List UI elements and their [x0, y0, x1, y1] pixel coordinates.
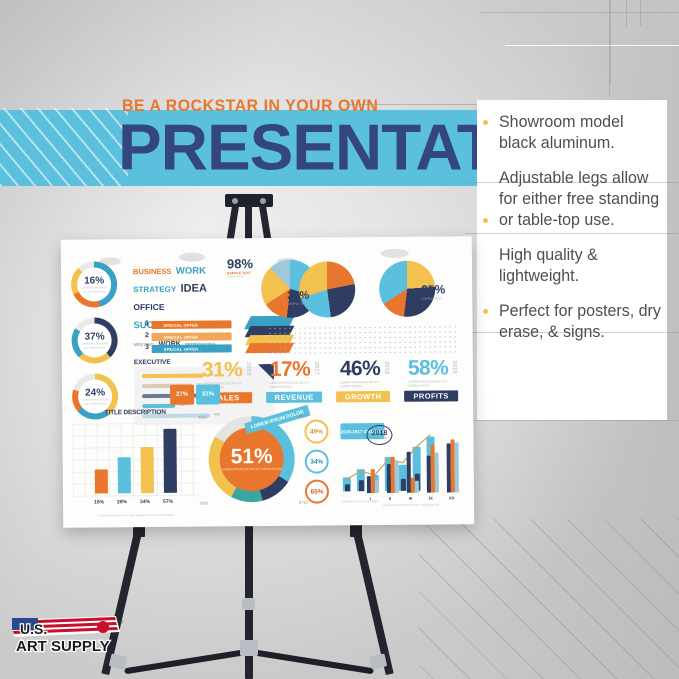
group-axis-label: IX	[429, 496, 433, 501]
word-cloud-item: BUSINESS	[133, 268, 171, 276]
group-chart-footnote: LOREM IPSUM DOLOR SIT AMET CONSECTETUR	[363, 503, 459, 507]
pie-caption: SAMPLE TEXT	[287, 302, 309, 306]
bullet-dot-icon	[483, 309, 488, 314]
kpi-sub: LOREM IPSUM DOLOR SIT LOREM IPSUM	[270, 381, 310, 389]
offer-bar: 1 SPECIAL OFFER	[151, 320, 231, 329]
product-marketing-image: BE A ROCKSTAR IN YOUR OWN PRESENTATION S…	[0, 0, 679, 679]
list-item: Perfect for posters, dry erase, & signs.	[482, 301, 670, 343]
offer-label: SPECIAL OFFER	[164, 334, 199, 339]
small-tag-51: 51%	[196, 384, 220, 404]
deco-line-vertical-c	[640, 0, 641, 26]
kpi-year: 2016	[245, 362, 251, 375]
kpi-tag-revenue: REVENUE	[266, 392, 322, 403]
screw-icon	[232, 198, 238, 204]
kpi-sub: LOREM IPSUM DOLOR SIT LOREM IPSUM	[340, 380, 380, 388]
kpi-value: 46%	[340, 359, 380, 379]
word-cloud-item: EXECUTIVE	[134, 360, 171, 367]
bar	[95, 469, 108, 493]
feature-text: Showroom model black aluminum.	[499, 112, 665, 154]
pie-sub: LOREM IPSUM	[227, 275, 253, 278]
svg-text:®: ®	[118, 619, 123, 626]
word-cloud-item: STRATEGY	[133, 286, 176, 294]
donut-corner-label: 4354	[198, 415, 207, 420]
pie-label-98: 98% SAMPLE TEXT LOREM IPSUM	[227, 256, 253, 278]
group-chart-caption: SAMPLE TEXT	[371, 437, 387, 440]
bar-label: 57%	[163, 499, 173, 505]
group-axis-label: XX	[449, 495, 454, 500]
ring-center: 37% LOREM IPSUM DOLORSIT LOREM IPSUM	[77, 323, 111, 357]
pie-label-20: 20% SAMPLE TEXT	[287, 290, 309, 306]
deco-line-vertical-a	[610, 0, 611, 84]
bar	[141, 447, 154, 493]
bar-label: 16%	[94, 499, 104, 505]
group-axis-label: II	[389, 496, 391, 501]
bar	[118, 457, 131, 493]
feature-list: Showroom model black aluminum. Adjustabl…	[482, 112, 670, 357]
infographic-poster: 16% LOREM IPSUM DOLORSIT LOREM IPSUM 37%…	[61, 236, 474, 528]
bar-chart: TITLE DESCRIPTION 16% 28% 34% 57% LOREM …	[72, 409, 199, 518]
panel-rule-4	[465, 420, 679, 421]
ring-value: 24%	[85, 388, 105, 399]
kpi-tag-growth: GROWTH	[336, 391, 390, 402]
badge-65: 65%	[305, 479, 329, 503]
list-item: Adjustable legs allow for either free st…	[482, 168, 670, 231]
bullet-dot-icon	[483, 120, 488, 125]
bar	[455, 442, 459, 492]
svg-text:ART SUPPLY: ART SUPPLY	[16, 638, 110, 655]
kpi-revenue: 17% 2017 LOREM IPSUM DOLOR SIT LOREM IPS…	[270, 360, 310, 389]
ring-caption: LOREM IPSUM DOLORSIT LOREM IPSUM	[82, 399, 108, 406]
feature-text: Perfect for posters, dry erase, & signs.	[499, 301, 665, 343]
bar	[395, 461, 399, 493]
kpi-tag-profits: PROFITS	[404, 390, 458, 401]
svg-text:U.S.: U.S.	[20, 621, 47, 637]
cloud-icon	[381, 249, 409, 258]
word-cloud-item: OFFICE	[133, 303, 164, 311]
badge-value: 65%	[310, 488, 323, 495]
donut-corner-label: 7395	[199, 501, 208, 506]
list-item: High quality & lightweight.	[482, 245, 670, 287]
deco-line-top	[480, 12, 679, 13]
offer-bar: 3 SPECIAL OFFER	[152, 344, 232, 353]
pie-value: 35%	[421, 282, 445, 296]
bar-label: 28%	[117, 499, 127, 505]
bar-chart-title: TITLE DESCRIPTION	[72, 409, 198, 417]
ring-stat: 37% LOREM IPSUM DOLORSIT LOREM IPSUM	[71, 317, 117, 363]
bar-chart-footnote: LOREM IPSUM DOLOR SIT AMET CONSECTETUR A…	[73, 513, 199, 517]
dot-grid-decoration	[268, 324, 458, 354]
donut-corner-label: 9894	[298, 414, 307, 419]
bar	[375, 480, 379, 493]
pie-label-35: 35% SAMPLE TEXT	[421, 282, 445, 300]
bullet-dot-icon	[483, 218, 488, 223]
group-bar-chart: 2018 SAMPLE TEXT I II	[362, 422, 459, 507]
pie-value: 98%	[227, 256, 253, 271]
kpi-value: 17%	[270, 360, 310, 380]
group-axis-label: III	[409, 496, 412, 501]
kpi-sub: LOREM IPSUM DOLOR SIT LOREM IPSUM	[408, 379, 448, 387]
ring-value: 16%	[84, 276, 104, 287]
donut-caption: LOREM IPSUM DOLOR SIT LOREM IPSUM	[222, 467, 282, 472]
word-cloud-item: WORK	[176, 267, 206, 276]
ring-caption: LOREM IPSUM DOLORSIT LOREM IPSUM	[81, 287, 107, 294]
donut-corner-label: 6712	[299, 500, 308, 505]
badge-34: 34%	[305, 449, 329, 473]
kpi-value: 31%	[202, 360, 242, 380]
kpi-value: 58%	[408, 358, 448, 378]
feature-text: Adjustable legs allow for either free st…	[499, 168, 665, 231]
offer-number: 3	[143, 344, 152, 354]
small-tag-27: 27%	[170, 385, 194, 405]
ring-center: 16% LOREM IPSUM DOLORSIT LOREM IPSUM	[77, 267, 111, 301]
bar	[163, 429, 177, 493]
kpi-profits: 58% 2019 LOREM IPSUM DOLOR SIT LOREM IPS…	[408, 358, 448, 387]
offer-number: 1	[142, 320, 151, 330]
bar	[415, 481, 419, 493]
pie-caption: SAMPLE TEXT	[421, 296, 445, 300]
ring-value: 37%	[85, 332, 105, 343]
bar	[435, 453, 439, 493]
bar	[407, 452, 411, 493]
kpi-growth: 46% 2018 LOREM IPSUM DOLOR SIT LOREM IPS…	[340, 359, 380, 388]
us-art-supply-logo-icon: U.S. ART SUPPLY ®	[8, 610, 128, 662]
screw-icon	[260, 198, 266, 204]
badge-value: 49%	[310, 428, 323, 435]
badge-value: 34%	[310, 458, 323, 465]
offer-bar: 2 SPECIAL OFFER	[152, 332, 232, 341]
deco-line-vertical-d	[609, 0, 610, 95]
group-axis-label: I	[370, 496, 371, 501]
group-chart-year-bubble: 2018 SAMPLE TEXT	[366, 425, 392, 445]
kpi-year: 2017	[313, 362, 319, 375]
deco-diagonal-corner	[419, 519, 679, 679]
deco-line-vertical-b	[626, 0, 627, 28]
list-item: Showroom model black aluminum.	[482, 112, 670, 154]
brand-logo: U.S. ART SUPPLY ®	[8, 610, 128, 662]
small-tag-value: 51%	[202, 391, 214, 397]
ring-stat: 16% LOREM IPSUM DOLORSIT LOREM IPSUM	[71, 261, 117, 307]
deco-line-top-white	[505, 45, 679, 46]
small-tag-value: 27%	[176, 392, 188, 398]
offer-label: SPECIAL OFFER	[163, 322, 198, 327]
word-cloud-item: IDEA	[181, 284, 207, 295]
bar-label: 34%	[140, 499, 150, 505]
feature-text: High quality & lightweight.	[499, 245, 665, 287]
easel-mast-clamp	[242, 598, 255, 610]
banner-diagonal-overlay	[0, 108, 128, 186]
badge-49: 49%	[304, 419, 328, 443]
hbar-label: 480	[214, 412, 219, 416]
offer-label: SPECIAL OFFER	[164, 346, 199, 351]
kpi-year: 2019	[451, 360, 457, 373]
easel-center-clamp	[240, 640, 258, 656]
pie-value: 20%	[287, 290, 309, 302]
donut-value: 51%	[231, 447, 273, 467]
ring-caption: LOREM IPSUM DOLORSIT LOREM IPSUM	[82, 343, 108, 350]
kpi-year: 2018	[383, 361, 389, 374]
offer-number: 2	[143, 332, 152, 342]
hbar	[142, 374, 204, 379]
